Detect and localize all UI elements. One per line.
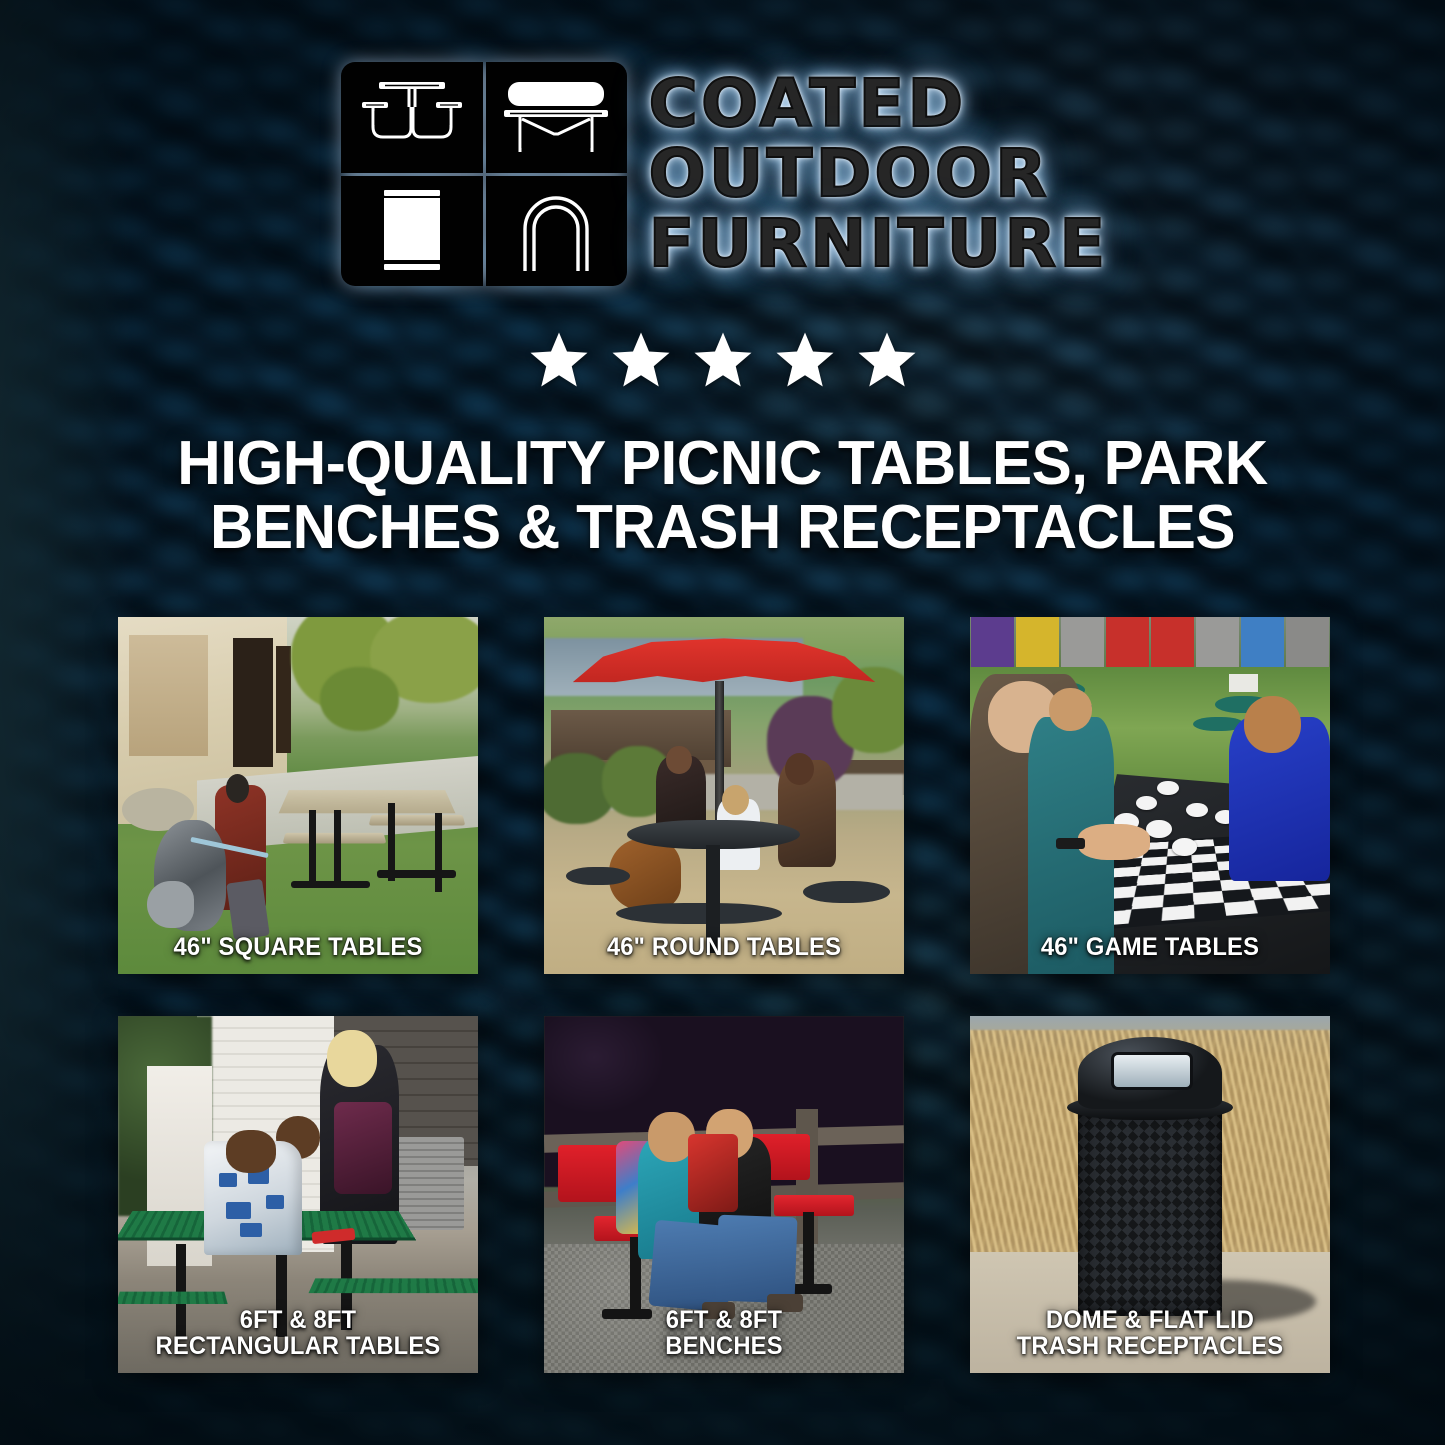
- star-icon: [692, 330, 754, 390]
- park-bench-icon: [486, 62, 628, 173]
- product-photo-round-tables: [544, 617, 904, 974]
- product-label-line-1: 46" GAME TABLES: [1041, 933, 1259, 961]
- product-label: 46" ROUND TABLES: [559, 935, 890, 961]
- headline: HIGH-QUALITY PICNIC TABLES, PARK BENCHES…: [60, 432, 1385, 560]
- product-card-round-tables[interactable]: 46" ROUND TABLES: [544, 617, 904, 974]
- product-card-trash-receptacles[interactable]: DOME & FLAT LID TRASH RECEPTACLES: [970, 1016, 1330, 1373]
- product-grid: 46" SQUARE TABLES: [118, 617, 1330, 1373]
- product-label-line-2: RECTANGULAR TABLES: [133, 1334, 464, 1360]
- product-label-line-2: BENCHES: [559, 1334, 890, 1360]
- headline-line-1: HIGH-QUALITY PICNIC TABLES, PARK: [80, 432, 1365, 496]
- bike-rack-icon: [486, 176, 628, 287]
- star-icon: [774, 330, 836, 390]
- trash-receptacle-icon: [341, 176, 483, 287]
- picnic-table-icon: [341, 62, 483, 173]
- product-label: DOME & FLAT LID TRASH RECEPTACLES: [985, 1308, 1316, 1359]
- product-label-line-1: DOME & FLAT LID: [1046, 1306, 1254, 1334]
- star-icon: [856, 330, 918, 390]
- logo-icon-grid: [341, 62, 627, 286]
- brand-line-3: FURNITURE: [649, 213, 1109, 275]
- brand-line-1: COATED: [649, 73, 1109, 135]
- product-card-square-tables[interactable]: 46" SQUARE TABLES: [118, 617, 478, 974]
- product-label-line-2: TRASH RECEPTACLES: [985, 1334, 1316, 1360]
- product-label-line-1: 46" ROUND TABLES: [607, 933, 841, 961]
- brand-wordmark: COATED OUTDOOR FURNITURE: [653, 73, 1104, 275]
- star-icon: [528, 330, 590, 390]
- product-label-line-1: 46" SQUARE TABLES: [174, 933, 423, 961]
- product-label: 6FT & 8FT RECTANGULAR TABLES: [133, 1308, 464, 1359]
- promo-graphic: COATED OUTDOOR FURNITURE HIGH-QUALITY PI…: [0, 0, 1445, 1445]
- product-label-line-1: 6FT & 8FT: [666, 1306, 783, 1334]
- product-label-line-1: 6FT & 8FT: [240, 1306, 357, 1334]
- product-photo-game-tables: [970, 617, 1330, 974]
- product-card-rectangular-tables[interactable]: 6FT & 8FT RECTANGULAR TABLES: [118, 1016, 478, 1373]
- product-label: 46" GAME TABLES: [985, 935, 1316, 961]
- product-card-game-tables[interactable]: 46" GAME TABLES: [970, 617, 1330, 974]
- star-rating: [0, 330, 1445, 390]
- product-photo-square-tables: [118, 617, 478, 974]
- brand-logo: COATED OUTDOOR FURNITURE: [0, 62, 1445, 286]
- product-label: 6FT & 8FT BENCHES: [559, 1308, 890, 1359]
- headline-line-2: BENCHES & TRASH RECEPTACLES: [80, 496, 1365, 560]
- star-icon: [610, 330, 672, 390]
- product-label: 46" SQUARE TABLES: [133, 935, 464, 961]
- brand-line-2: OUTDOOR: [649, 143, 1109, 205]
- product-card-benches[interactable]: 6FT & 8FT BENCHES: [544, 1016, 904, 1373]
